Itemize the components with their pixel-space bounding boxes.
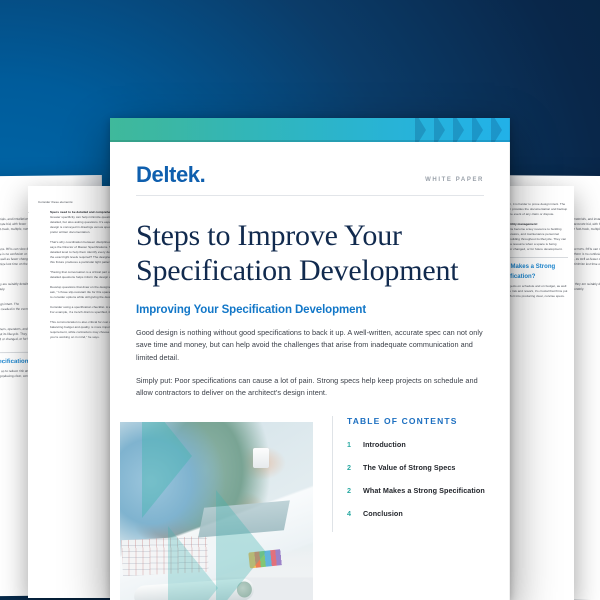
band-chevron-icon-4 [434, 118, 445, 142]
coffee-cup-detail [253, 448, 269, 468]
page-title-line-2: Specification Development [136, 254, 458, 287]
toc-item-conclusion[interactable]: 4 Conclusion [347, 509, 488, 518]
toc-item-number: 2 [347, 486, 363, 495]
cover-photo-image [120, 422, 313, 600]
deltek-logo-dot: . [200, 162, 206, 187]
page-subtitle: Improving Your Specification Development [136, 304, 484, 316]
cover-photo [120, 422, 313, 600]
intro-paragraph-1: Good design is nothing without good spec… [136, 327, 484, 364]
page-title: Steps to Improve Your Specification Deve… [136, 218, 484, 288]
toc-item-introduction[interactable]: 1 Introduction [347, 440, 488, 449]
white-paper-cover-page: Deltek. WHITE PAPER Steps to Improve You… [110, 118, 510, 600]
toc-heading: TABLE OF CONTENTS [347, 416, 488, 426]
drawing-tube-detail [133, 578, 254, 600]
deltek-logo: Deltek. [136, 164, 205, 186]
laptop-keyboard-detail [198, 500, 290, 537]
band-chevron-icon-3 [453, 118, 464, 142]
blueprint-detail [121, 536, 209, 576]
toc-item-number: 2 [347, 463, 363, 472]
screenshot-stage: Strong Specs Why are specs so important?… [0, 0, 600, 600]
toc-item-number: 4 [347, 509, 363, 518]
band-bottom-edge [110, 140, 510, 142]
toc-item-label: Conclusion [363, 509, 403, 518]
toc-item-label: The Value of Strong Specs [363, 463, 455, 472]
band-chevron-icon-5 [415, 118, 426, 142]
toc-item-value-of-strong-specs[interactable]: 2 The Value of Strong Specs [347, 463, 488, 472]
header-gradient-band [110, 118, 510, 142]
page-title-line-1: Steps to Improve Your [136, 219, 402, 252]
white-paper-label: WHITE PAPER [425, 177, 484, 186]
band-chevron-icon-1 [491, 118, 502, 142]
markers-detail [248, 548, 297, 569]
band-chevron-icon-2 [472, 118, 483, 142]
table-of-contents: TABLE OF CONTENTS 1 Introduction 2 The V… [332, 416, 488, 532]
toc-item-label: What Makes a Strong Specification [363, 486, 485, 495]
toc-item-what-makes-a-strong-specification[interactable]: 2 What Makes a Strong Specification [347, 486, 488, 495]
toc-item-number: 1 [347, 440, 363, 449]
intro-paragraph-2: Simply put: Poor specifications can caus… [136, 375, 484, 399]
left-inner-item-number: 1. [28, 210, 29, 215]
toc-item-label: Introduction [363, 440, 406, 449]
cover-lower-section: TABLE OF CONTENTS 1 Introduction 2 The V… [110, 410, 510, 600]
deltek-logo-text: Deltek [136, 162, 200, 187]
cover-header-row: Deltek. WHITE PAPER [136, 142, 484, 196]
left-outer-block-0-body: When bidders have a clear picture of the… [0, 217, 29, 237]
